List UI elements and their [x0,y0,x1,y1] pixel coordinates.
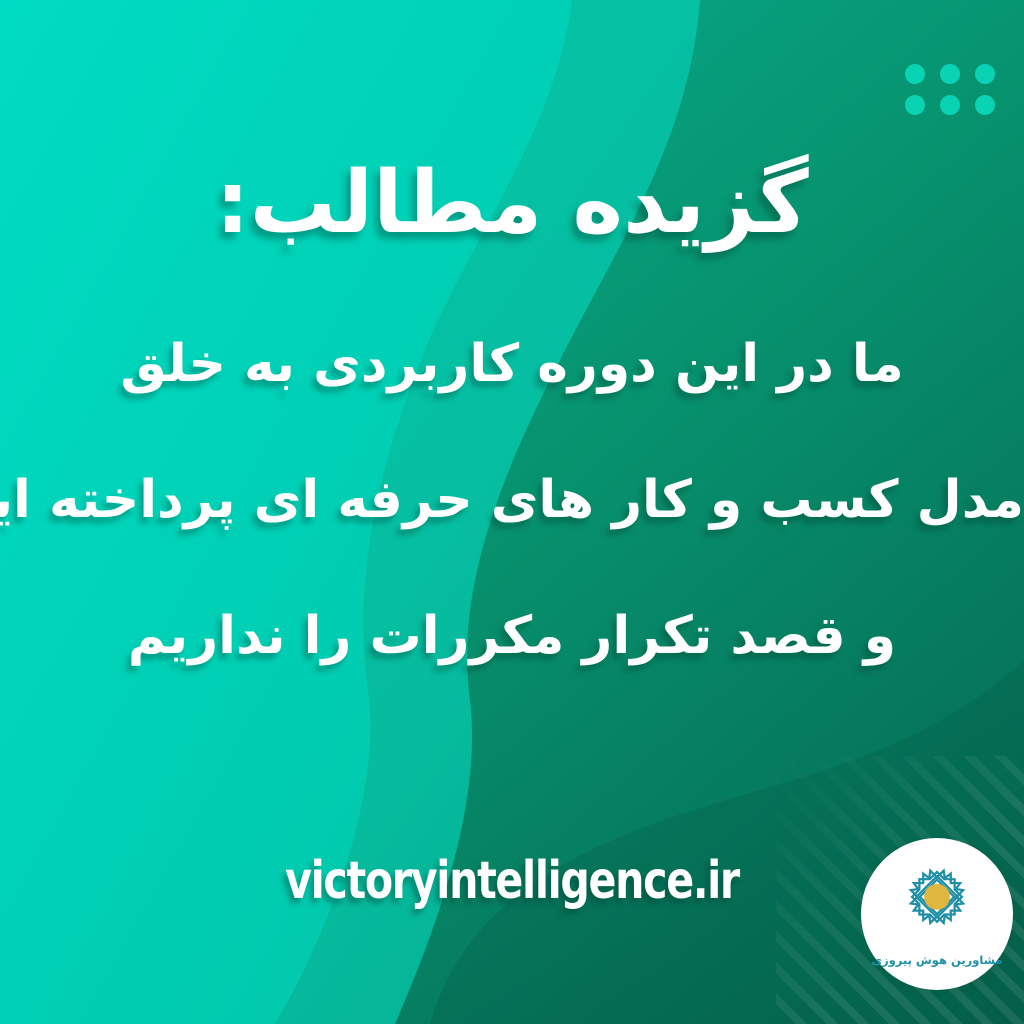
poster-content: گزیده مطالب: ما در این دوره کاربردی به خ… [0,0,1024,1024]
page-title: گزیده مطالب: [0,158,1024,248]
body-line-3: و قصد تکرار مکررات را نداریم [0,610,1024,662]
body-line-1: ما در این دوره کاربردی به خلق [0,338,1024,390]
body-text: ما در این دوره کاربردی به خلق مدل کسب و … [0,338,1024,746]
logo-center-dot [924,884,950,910]
website-url[interactable]: victoryintelligence.ir [61,851,962,911]
logo-badge[interactable]: مشاورین هوش پیروزی [861,838,1013,990]
islamic-star-icon [885,865,989,951]
logo-caption: مشاورین هوش پیروزی [871,953,1002,967]
body-line-2: مدل کسب و کار های حرفه ای پرداخته ایم [0,474,1024,526]
poster-canvas: گزیده مطالب: ما در این دوره کاربردی به خ… [0,0,1024,1024]
